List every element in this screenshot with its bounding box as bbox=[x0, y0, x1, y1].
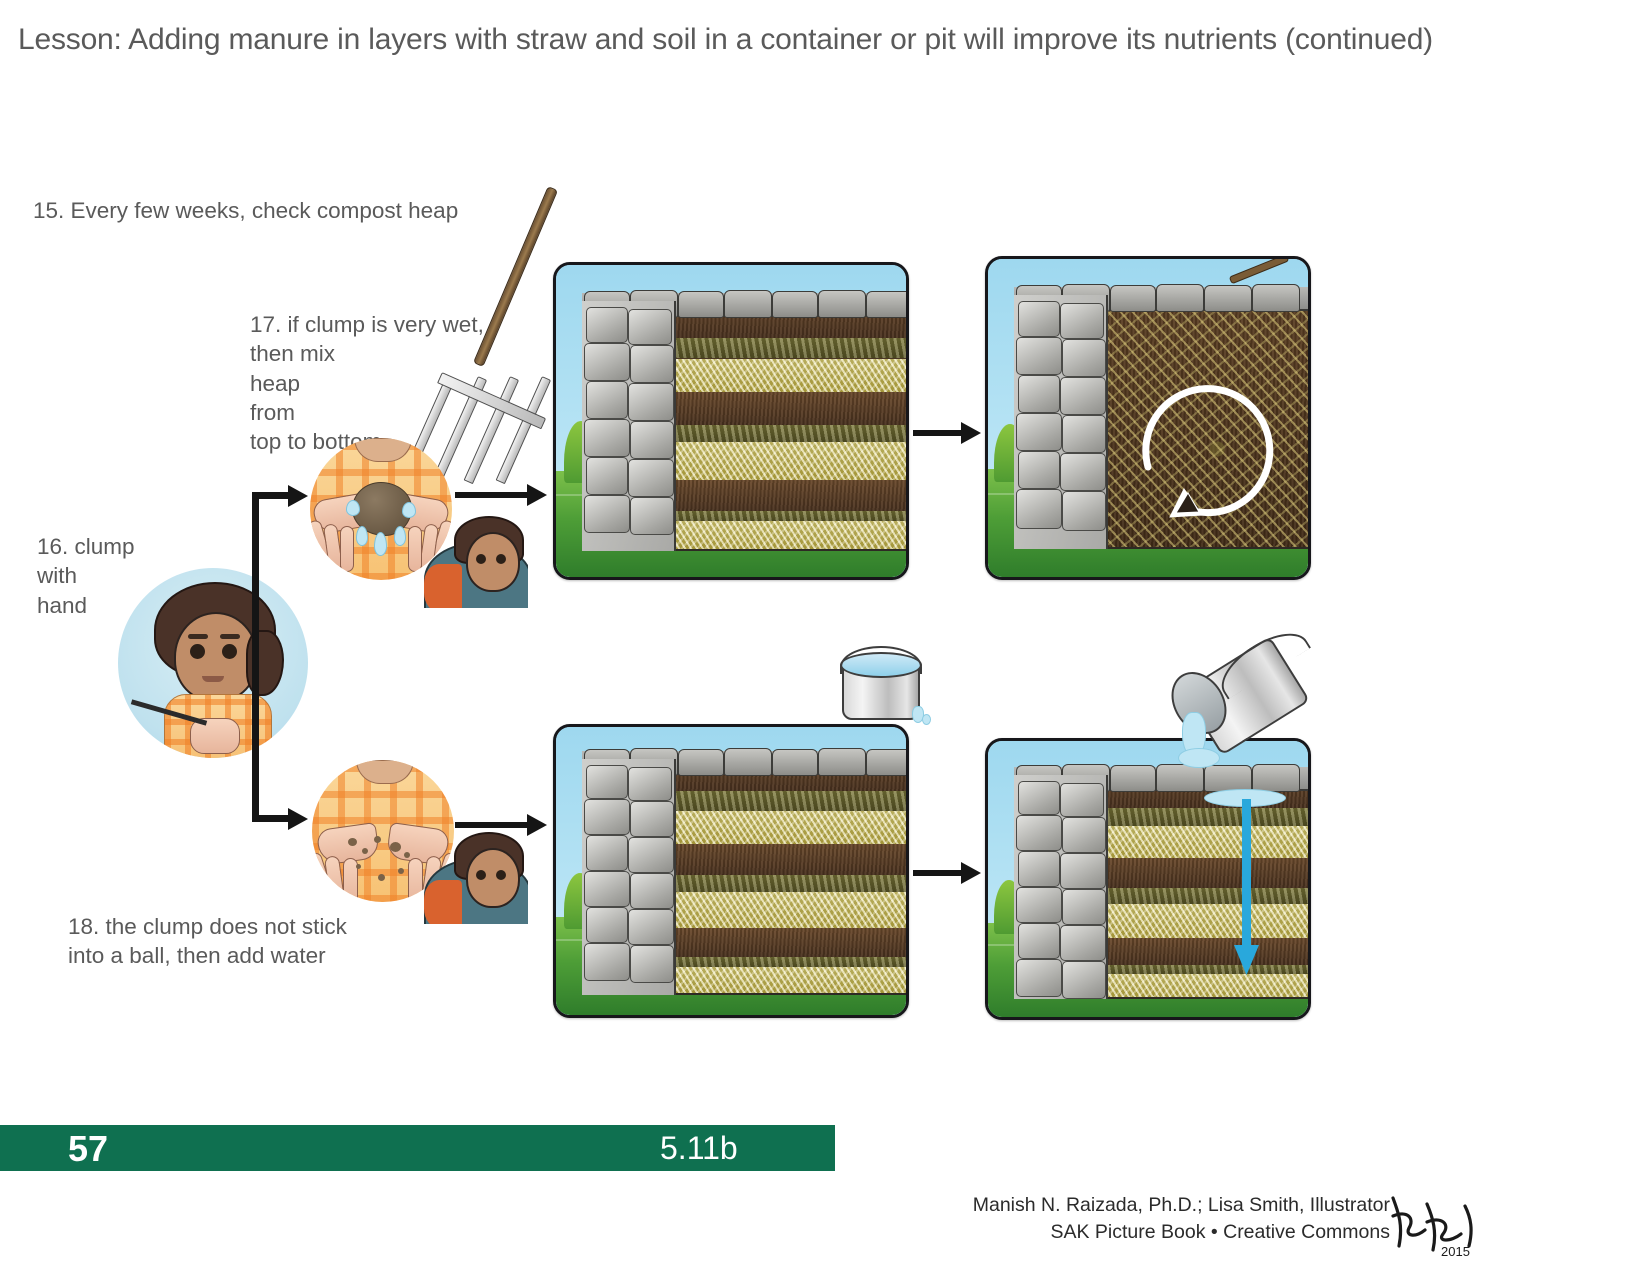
wall-stone bbox=[1016, 887, 1062, 923]
wall-stone bbox=[1018, 851, 1060, 887]
branch-arrow-bottom bbox=[252, 815, 288, 822]
arrow-shaft bbox=[455, 492, 527, 498]
panel-mixed-compost-heap bbox=[985, 256, 1311, 580]
wall-stone bbox=[1060, 853, 1106, 889]
wall-stone bbox=[1062, 339, 1106, 377]
credit-line-1: Manish N. Raizada, Ph.D.; Lisa Smith, Il… bbox=[973, 1192, 1390, 1219]
cap-stone bbox=[1252, 284, 1300, 312]
credit-line-2: SAK Picture Book • Creative Commons bbox=[973, 1219, 1390, 1246]
wall-stone bbox=[1018, 781, 1060, 815]
signature-year: 2015 bbox=[1441, 1244, 1470, 1259]
arrow-right-icon[interactable] bbox=[961, 862, 981, 884]
branch-arrow-top bbox=[252, 492, 288, 499]
cap-stone bbox=[866, 749, 909, 776]
pitchfork-icon bbox=[430, 180, 680, 510]
wall-stone bbox=[1060, 377, 1106, 415]
step-16-caption: 16. clump with hand bbox=[37, 532, 135, 620]
wall-stone bbox=[1018, 923, 1060, 959]
wall-stone bbox=[630, 873, 674, 909]
panel-layered-heap-dry bbox=[553, 724, 909, 1018]
arrow-shaft bbox=[913, 430, 961, 436]
step-15-caption: 15. Every few weeks, check compost heap bbox=[33, 196, 458, 225]
section-number: 5.11b bbox=[660, 1130, 738, 1167]
wall-stone bbox=[1062, 491, 1106, 531]
cap-stone bbox=[772, 291, 818, 318]
wall-stone bbox=[1016, 959, 1062, 997]
wall-stone bbox=[628, 767, 672, 801]
arrow-shaft bbox=[455, 822, 527, 828]
compost-bin bbox=[582, 751, 909, 995]
step-18-caption: 18. the clump does not stick into a ball… bbox=[68, 912, 347, 971]
cap-stone bbox=[1156, 284, 1204, 312]
arrow-right-icon bbox=[288, 808, 308, 830]
wall-stone bbox=[1016, 413, 1062, 451]
page-title: Lesson: Adding manure in layers with str… bbox=[18, 22, 1618, 59]
wall-stone bbox=[1060, 303, 1104, 339]
wall-stone bbox=[1016, 815, 1062, 851]
illustrator-signature: 2015 bbox=[1385, 1188, 1495, 1260]
compost-bin bbox=[1014, 287, 1311, 549]
wall-stone bbox=[1018, 301, 1060, 337]
woman-face-icon bbox=[424, 516, 528, 608]
down-arrow-icon bbox=[1232, 799, 1262, 977]
pouring-bucket-icon bbox=[1150, 640, 1330, 790]
wall-stone bbox=[1062, 415, 1106, 453]
girl-clumping-soil-vignette bbox=[118, 568, 308, 758]
wall-stone bbox=[1062, 889, 1106, 925]
wall-stone bbox=[1060, 453, 1106, 491]
compost-bin bbox=[1014, 767, 1311, 999]
arrow-right-icon[interactable] bbox=[527, 484, 547, 506]
wall-stone bbox=[630, 945, 674, 983]
woman-face-icon bbox=[424, 832, 528, 924]
cap-stone bbox=[678, 749, 724, 776]
wall-stone bbox=[1016, 489, 1062, 529]
arrow-shaft bbox=[913, 870, 961, 876]
wall-stone bbox=[1062, 961, 1106, 999]
arrow-right-icon[interactable] bbox=[961, 422, 981, 444]
cap-stone bbox=[724, 748, 772, 776]
wall-stone bbox=[586, 907, 628, 943]
cap-stone bbox=[678, 291, 724, 318]
wall-stone bbox=[584, 871, 630, 907]
wall-stone bbox=[586, 765, 628, 799]
branch-arrow-stem bbox=[252, 492, 259, 554]
cap-stone bbox=[818, 290, 866, 318]
circular-arrow-icon bbox=[1110, 339, 1300, 529]
cap-stone bbox=[866, 291, 909, 318]
wall-stone bbox=[584, 799, 630, 835]
wall-stone bbox=[584, 943, 630, 981]
wall-stone bbox=[1018, 375, 1060, 413]
cap-stone bbox=[772, 749, 818, 776]
branch-arrow-stem bbox=[252, 554, 259, 822]
wall-stone bbox=[1016, 337, 1062, 375]
cap-stone bbox=[1110, 285, 1156, 312]
cap-stone bbox=[818, 748, 866, 776]
water-bucket-icon bbox=[828, 640, 938, 730]
arrow-right-icon bbox=[288, 485, 308, 507]
wall-stone bbox=[1062, 817, 1106, 853]
credits-block: Manish N. Raizada, Ph.D.; Lisa Smith, Il… bbox=[973, 1192, 1390, 1246]
wall-stone bbox=[628, 909, 674, 945]
cap-stone bbox=[1204, 285, 1252, 312]
wall-stone bbox=[586, 835, 628, 871]
wall-stone bbox=[1018, 451, 1060, 489]
page-number: 57 bbox=[68, 1128, 108, 1170]
arrow-right-icon[interactable] bbox=[527, 814, 547, 836]
wall-stone bbox=[630, 801, 674, 837]
cap-stone bbox=[724, 290, 772, 318]
wall-stone bbox=[1060, 925, 1106, 961]
wall-stone bbox=[1060, 783, 1104, 817]
wall-stone bbox=[628, 837, 674, 873]
